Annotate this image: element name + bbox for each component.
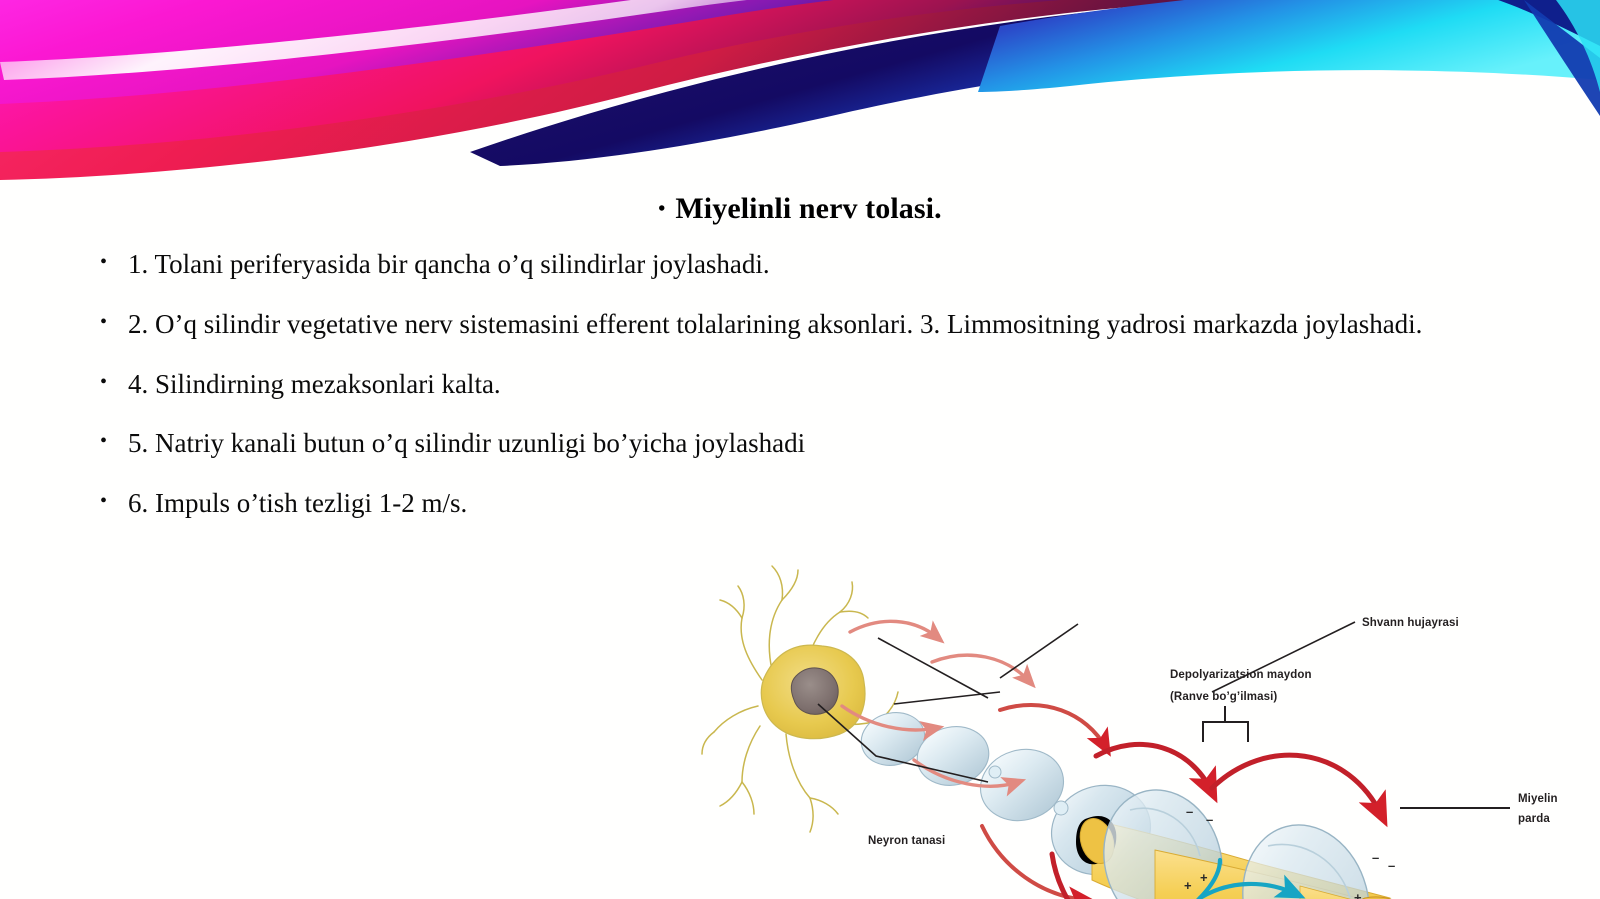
- leader-schwann-line: [1212, 622, 1355, 692]
- charge-negative: –: [1186, 804, 1193, 819]
- bullet-dot-icon: •: [100, 427, 107, 456]
- banner-wave-pink: [0, 0, 1210, 152]
- myelin-node-bump: [989, 766, 1001, 778]
- banner-wave-magenta: [0, 0, 1120, 104]
- banner-wave-navy: [470, 0, 1600, 166]
- charge-positive: +: [1354, 890, 1362, 899]
- bullet-list: • 1. Tolani periferyasida bir qancha o’q…: [96, 248, 1436, 547]
- list-item: • 5. Natriy kanali butun o’q silindir uz…: [96, 427, 1436, 461]
- banner-wave-cyan: [978, 0, 1600, 92]
- label-depolarization-line1: Depolyarizatsion maydon: [1170, 669, 1312, 681]
- leader-neuron-body-line: [894, 692, 1000, 704]
- leader-schwann: [1000, 624, 1078, 678]
- leader-neuron-body: [878, 638, 988, 698]
- title-bullet-icon: •: [658, 198, 665, 220]
- bullet-dot-icon: •: [100, 368, 107, 397]
- list-item: • 4. Silindirning mezaksonlari kalta.: [96, 368, 1436, 402]
- bullet-dot-icon: •: [100, 248, 107, 277]
- page-title-text: Miyelinli nerv tolasi.: [675, 192, 941, 225]
- charge-positive: +: [1184, 878, 1192, 893]
- list-item: • 1. Tolani periferyasida bir qancha o’q…: [96, 248, 1436, 282]
- page-title: •Miyelinli nerv tolasi.: [0, 192, 1600, 226]
- presentation-slide: •Miyelinli nerv tolasi. • 1. Tolani peri…: [0, 0, 1600, 899]
- list-item-text: 6. Impuls o’tish tezligi 1-2 m/s.: [128, 488, 467, 518]
- node-of-ranvier-bracket: [1203, 706, 1248, 742]
- list-item: • 6. Impuls o’tish tezligi 1-2 m/s.: [96, 487, 1436, 521]
- list-item-text: 2. O’q silindir vegetative nerv sistemas…: [128, 309, 1422, 339]
- list-item-text: 4. Silindirning mezaksonlari kalta.: [128, 369, 501, 399]
- label-myelin-line2: parda: [1518, 813, 1550, 825]
- neuron-nucleus: [791, 668, 838, 714]
- bullet-dot-icon: •: [100, 308, 107, 337]
- label-neuron-body: Neyron tanasi: [868, 835, 945, 847]
- label-depolarization-line2: (Ranve bo’g’ilmasi): [1170, 691, 1277, 703]
- label-myelin-line1: Miyelin: [1518, 793, 1558, 805]
- charge-positive: +: [1200, 870, 1208, 885]
- banner-wave-crimson: [0, 0, 1260, 180]
- myelin-node-bump: [1054, 801, 1068, 815]
- decorative-banner: [0, 0, 1600, 200]
- charge-negative: –: [1206, 812, 1213, 827]
- myelinated-nerve-fiber-diagram: – – – – + + + + + + + + – – – –: [700, 520, 1600, 899]
- label-schwann-cell: Shvann hujayrasi: [1362, 617, 1459, 629]
- list-item-text: 1. Tolani periferyasida bir qancha o’q s…: [128, 249, 770, 279]
- charge-negative: –: [1388, 858, 1395, 873]
- list-item-text: 5. Natriy kanali butun o’q silindir uzun…: [128, 428, 805, 458]
- banner-navy-sliver: [1480, 0, 1600, 46]
- banner-navy-sliver-2: [1524, 0, 1600, 116]
- banner-cyan-tip: [1556, 0, 1600, 92]
- banner-white-streak: [0, 0, 960, 80]
- bullet-dot-icon: •: [100, 487, 107, 516]
- list-item: • 2. O’q silindir vegetative nerv sistem…: [96, 308, 1468, 342]
- charge-negative: –: [1372, 850, 1379, 865]
